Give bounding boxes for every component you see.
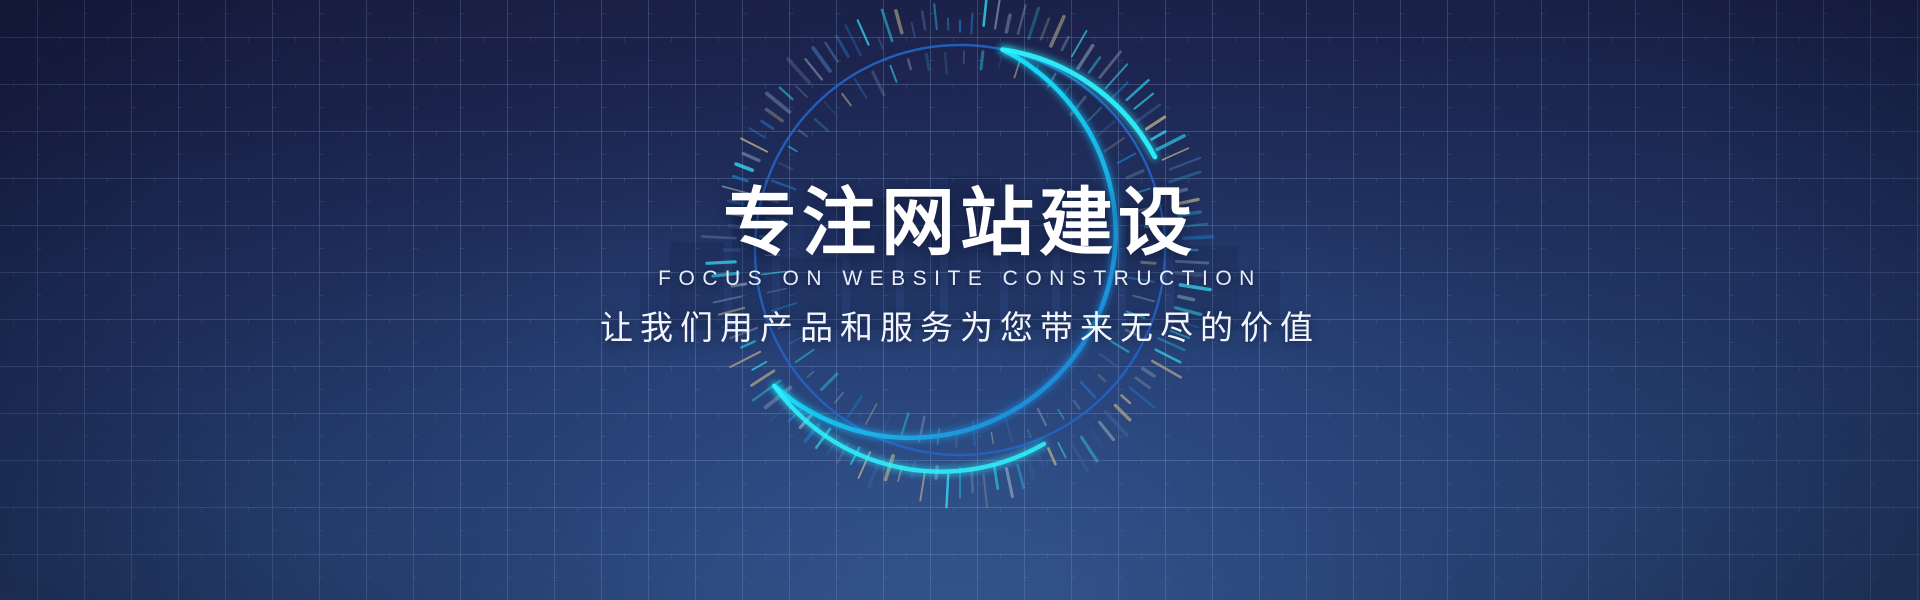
page-title: 专注网站建设 <box>0 186 1920 260</box>
subtitle-chinese: 让我们用产品和服务为您带来无尽的价值 <box>0 305 1920 351</box>
subtitle-english: FOCUS ON WEBSITE CONSTRUCTION <box>0 268 1920 289</box>
hero-banner: 专注网站建设 FOCUS ON WEBSITE CONSTRUCTION 让我们… <box>0 0 1920 600</box>
vignette-overlay <box>0 0 1920 600</box>
